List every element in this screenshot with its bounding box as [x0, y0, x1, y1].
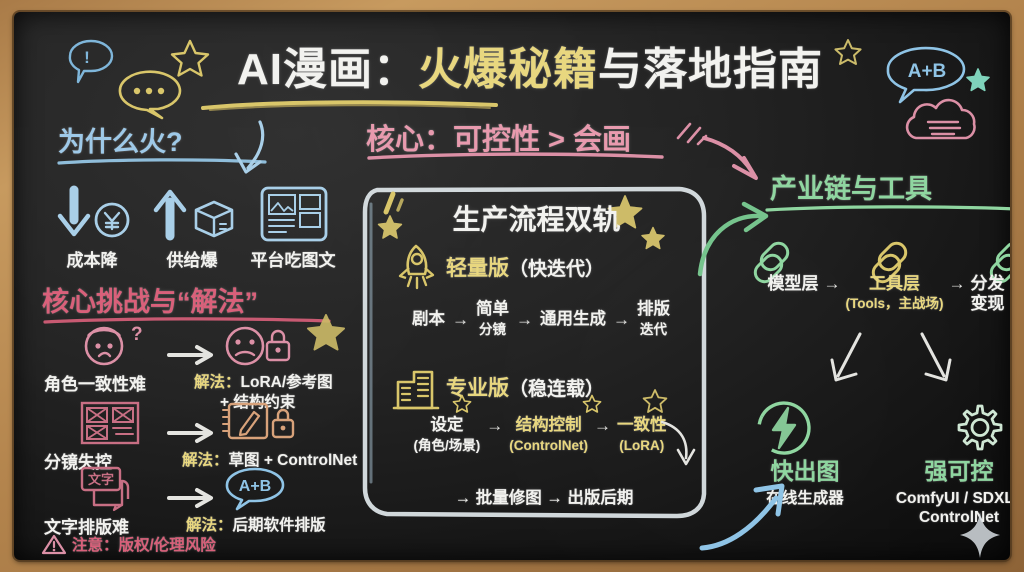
lite-step: 排版迭代	[637, 300, 670, 339]
solution-text: LoRA/参考图	[241, 374, 333, 391]
arrow-right-icon	[167, 487, 215, 509]
title-part-1: AI漫画：	[237, 45, 418, 94]
subtitle-underline	[366, 152, 666, 162]
star-icon-gold-4	[377, 214, 403, 240]
arrow-curve-down-icon	[658, 416, 698, 470]
arrow-pink-curved-icon	[700, 130, 768, 192]
flow-arrow-icon: →	[594, 416, 611, 436]
chain-step: 模型层	[768, 274, 819, 293]
flow-arrow-icon: →	[452, 310, 469, 330]
warning-text: 注意：版权/伦理风险	[72, 533, 216, 555]
flow-arrow-icon: →	[949, 274, 966, 294]
pipeline-lite-heading: 轻量版（快迭代）	[446, 252, 604, 282]
cloud-icon-pink	[900, 98, 986, 146]
pipeline-lite-steps: 剧本 → 简单分镜 → 通用生成 → 排版迭代	[386, 300, 696, 339]
flow-arrow-icon: →	[516, 310, 533, 330]
chain-step: 分发变现	[971, 274, 1005, 313]
svg-text:!: !	[84, 48, 90, 67]
why-item-platform: 平台吃图文	[238, 186, 348, 271]
bubble-ab-label: A+B	[908, 61, 947, 82]
pipeline-title: 生产流程双轨	[404, 198, 669, 238]
face-lock-icon	[221, 322, 293, 370]
title-part-2: 火爆秘籍	[418, 45, 598, 94]
why-item-label: 平台吃图文	[238, 246, 348, 271]
tablet-feed-icon	[238, 186, 348, 242]
why-item-supply: 供给爆	[140, 186, 244, 271]
pipeline-lite-note: （快迭代）	[509, 259, 604, 280]
flow-arrow-icon: →	[613, 310, 630, 330]
warning-triangle-icon	[42, 534, 66, 555]
challenge-solution-label: 解法：LoRA/参考图	[194, 370, 333, 392]
arrow-blue-up-icon	[698, 462, 808, 552]
title-underline	[200, 100, 500, 112]
arrow-up-box-icon	[140, 186, 244, 242]
svg-text:文字: 文字	[88, 472, 114, 487]
sparkle-icon	[958, 510, 1002, 560]
building-icon	[392, 364, 440, 412]
arrow-down-curved-icon	[226, 118, 276, 180]
pro-step: 结构控制(ControlNet)	[509, 416, 588, 455]
title-part-3: 与落地指南	[598, 45, 823, 94]
pipeline-lite-name: 轻量版	[446, 257, 509, 280]
chain-step: 工具层(Tools，主战场)	[846, 274, 944, 313]
svg-text:?: ?	[131, 324, 143, 345]
star-outline-icon-2	[582, 394, 602, 414]
arrow-right-icon	[167, 344, 215, 366]
svg-text:A+B: A+B	[239, 478, 271, 495]
lite-step: 剧本	[412, 310, 445, 329]
chalkboard-poster: ! A+B	[0, 0, 1024, 572]
star-icon-gold-7	[642, 388, 668, 414]
section-heading-why: 为什么火?	[58, 120, 183, 159]
notebook-pencil-lock-icon	[221, 400, 297, 446]
arrow-down-yen-icon	[40, 186, 144, 242]
rocket-icon	[392, 242, 440, 290]
challenge-solution-label: 解法：后期软件排版	[186, 513, 326, 535]
section-heading-challenges: 核心挑战与“解法”	[42, 280, 258, 319]
pro-step: 设定(角色/场景)	[414, 416, 481, 455]
solution-prefix: 解法：	[186, 517, 233, 534]
star-outline-icon-1	[452, 394, 472, 414]
star-icon-gold-3	[306, 312, 346, 352]
broken-storyboard-icon	[76, 400, 146, 446]
gear-icon	[950, 400, 1006, 456]
text-bubble-icon: 文字	[76, 465, 146, 511]
industry-heading-underline	[764, 205, 1010, 214]
arrow-down-right-icon	[914, 330, 958, 388]
challenge-problem-label: 角色一致性难	[44, 370, 146, 395]
lightning-circle-icon	[756, 400, 812, 456]
lite-step: 通用生成	[540, 310, 606, 329]
lite-step: 简单分镜	[476, 300, 509, 339]
star-icon-teal	[966, 68, 990, 92]
industry-chain-flow: 模型层 → 工具层(Tools，主战场) → 分发变现	[740, 274, 1010, 313]
flow-arrow-icon: →	[824, 274, 841, 294]
section-heading-industry: 产业链与工具	[770, 167, 932, 206]
flow-arrow-icon: →	[486, 416, 503, 436]
face-question-icon: ?	[76, 322, 146, 370]
arrow-right-icon	[167, 422, 215, 444]
why-item-cost: 成本降	[40, 186, 144, 271]
pipeline-pro-steps: 设定(角色/场景) → 结构控制(ControlNet) → 一致性(LoRA)	[380, 416, 700, 455]
tool-icons-row	[756, 400, 1006, 456]
why-item-label: 成本降	[40, 246, 144, 271]
ab-bubble-icon: A+B	[221, 465, 297, 511]
board-surface: ! A+B	[14, 12, 1010, 560]
solution-prefix: 解法：	[194, 374, 241, 391]
arrow-down-left-icon	[826, 330, 870, 388]
bubble-exclamation-icon: !	[62, 36, 120, 88]
tool-name: 强可控	[886, 452, 1010, 486]
solution-text: 后期软件排版	[233, 517, 326, 534]
page-title: AI漫画：火爆秘籍与落地指南	[190, 44, 870, 100]
pipeline-pro-steps-line2: → 批量修图 → 出版后期	[414, 484, 674, 508]
why-item-label: 供给爆	[140, 246, 244, 271]
warning-note: 注意：版权/伦理风险	[42, 533, 216, 555]
